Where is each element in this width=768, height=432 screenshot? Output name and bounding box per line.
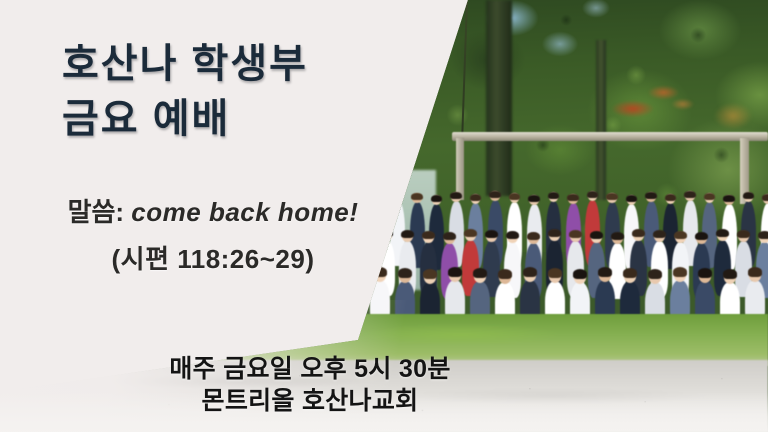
person-hair: [606, 193, 617, 200]
person-hair: [548, 229, 561, 237]
footer-line-1: 매주 금요일 오후 5시 30분: [0, 353, 620, 385]
person-hair: [704, 193, 715, 200]
person-hair: [548, 268, 562, 278]
person-hair: [523, 267, 537, 277]
verse-label: 말씀:: [68, 197, 125, 227]
person-hair: [498, 269, 512, 279]
crowd-of-people: [370, 168, 768, 328]
person-hair: [632, 229, 645, 237]
footer-line-2: 몬트리올 호산나교회: [0, 385, 620, 417]
person-hair: [590, 231, 603, 239]
person-head: [393, 191, 402, 201]
person-hair: [489, 191, 500, 198]
person-hair: [527, 232, 540, 240]
person-hair: [698, 268, 712, 278]
title-line-2: 금요 예배: [62, 95, 402, 144]
person-hair: [653, 230, 666, 238]
person-hair: [598, 267, 612, 277]
verse-block: 말씀: come back home! (시편 118:26~29): [48, 192, 378, 276]
verse-reference: (시편 118:26~29): [48, 239, 378, 276]
person-hair: [398, 268, 412, 278]
person-hair: [470, 194, 481, 201]
person-hair: [509, 193, 520, 200]
person-hair: [723, 195, 734, 202]
person-hair: [716, 229, 729, 237]
tree-trunk: [486, 0, 512, 196]
person-hair: [758, 231, 768, 239]
person-hair: [684, 191, 695, 198]
person-hair: [737, 230, 750, 238]
verse-english: come back home!: [131, 197, 358, 227]
person-hair: [587, 191, 598, 198]
person-hair: [623, 268, 637, 278]
presentation-slide: 호산나 학생부 금요 예배 말씀: come back home! (시편 11…: [0, 0, 768, 432]
person-hair: [485, 230, 498, 238]
person-hair: [673, 267, 687, 277]
person-hair: [506, 231, 519, 239]
person-hair: [448, 267, 462, 277]
person-hair: [645, 192, 656, 199]
person-hair: [422, 231, 435, 239]
person-hair: [695, 232, 708, 240]
person-hair: [528, 195, 539, 202]
person-hair: [464, 229, 477, 237]
footer-block: 매주 금요일 오후 5시 30분 몬트리올 호산나교회: [0, 353, 620, 417]
person-hair: [674, 231, 687, 239]
person-head: [381, 230, 392, 241]
person-hair: [626, 195, 637, 202]
title-line-1: 호산나 학생부: [62, 40, 402, 89]
person-hair: [392, 191, 403, 198]
person-hair: [431, 195, 442, 202]
verse-line-1: 말씀: come back home!: [48, 192, 378, 229]
person-hair: [443, 232, 456, 240]
person-hair: [665, 194, 676, 201]
person-hair: [548, 192, 559, 199]
autumn-foliage: [604, 74, 700, 132]
person-hair: [423, 269, 437, 279]
person-hair: [567, 194, 578, 201]
person-hair: [648, 269, 662, 279]
person-hair: [743, 192, 754, 199]
person-hair: [762, 194, 768, 201]
person-hair: [401, 230, 414, 238]
person-hair: [569, 230, 582, 238]
person-hair: [748, 267, 762, 277]
person-hair: [473, 268, 487, 278]
person-hair: [380, 229, 393, 237]
person-hair: [723, 269, 737, 279]
swing-beam: [452, 132, 768, 141]
title-block: 호산나 학생부 금요 예배: [62, 40, 402, 144]
person-hair: [611, 232, 624, 240]
person-hair: [411, 193, 422, 200]
person-hair: [573, 269, 587, 279]
person-hair: [450, 192, 461, 199]
